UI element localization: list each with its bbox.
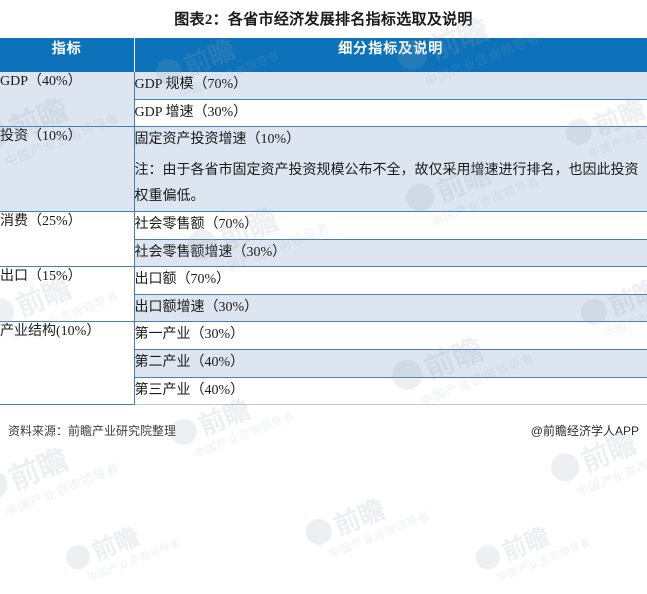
category-cell-gdp: GDP（40%） <box>0 72 134 127</box>
category-cell-industry-structure: 产业结构(10%） <box>0 322 134 405</box>
detail-cell: GDP 规模（70%） <box>134 72 647 99</box>
source-text: 资料来源：前瞻产业研究院整理 <box>8 422 176 439</box>
detail-cell: 第二产业（40%） <box>134 349 647 377</box>
detail-cell: 第一产业（30%） <box>134 322 647 350</box>
detail-cell: 社会零售额（70%） <box>134 211 647 239</box>
table-row: 出口（15%） 出口额（70%） <box>0 267 647 295</box>
table-row: 产业结构(10%） 第一产业（30%） <box>0 322 647 350</box>
table-row: 消费（25%） 社会零售额（70%） <box>0 211 647 239</box>
detail-cell: 第三产业（40%） <box>134 377 647 405</box>
detail-cell: 社会零售额增速（30%） <box>134 239 647 267</box>
attribution-text: @前瞻经济学人APP <box>531 422 639 439</box>
table-body: GDP（40%） GDP 规模（70%） GDP 增速（30%） 投资（10%）… <box>0 72 647 405</box>
footer: 资料来源：前瞻产业研究院整理 @前瞻经济学人APP <box>0 422 647 439</box>
detail-cell: 出口额（70%） <box>134 267 647 295</box>
table-header-row: 指标 细分指标及说明 <box>0 38 647 72</box>
detail-cell: 出口额增速（30%） <box>134 294 647 322</box>
column-header-indicator: 指标 <box>0 38 134 72</box>
page-title: 图表2：各省市经济发展排名指标选取及说明 <box>0 0 647 38</box>
table-header: 指标 细分指标及说明 <box>0 38 647 72</box>
detail-cell-note: 注：由于各省市固定资产投资规模公布不全，故仅采用增速进行排名，也因此投资权重偏低… <box>134 154 647 212</box>
indicator-table: 指标 细分指标及说明 GDP（40%） GDP 规模（70%） GDP 增速（3… <box>0 38 647 405</box>
table-row: GDP（40%） GDP 规模（70%） <box>0 72 647 99</box>
category-cell-consumption: 消费（25%） <box>0 211 134 266</box>
detail-cell: GDP 增速（30%） <box>134 99 647 127</box>
detail-cell: 固定资产投资增速（10%） <box>134 127 647 154</box>
table-row: 投资（10%） 固定资产投资增速（10%） <box>0 127 647 154</box>
column-header-detail: 细分指标及说明 <box>134 38 647 72</box>
category-cell-investment: 投资（10%） <box>0 127 134 212</box>
category-cell-export: 出口（15%） <box>0 267 134 322</box>
chart-page: 图表2：各省市经济发展排名指标选取及说明 指标 细分指标及说明 GDP（40%）… <box>0 0 647 594</box>
